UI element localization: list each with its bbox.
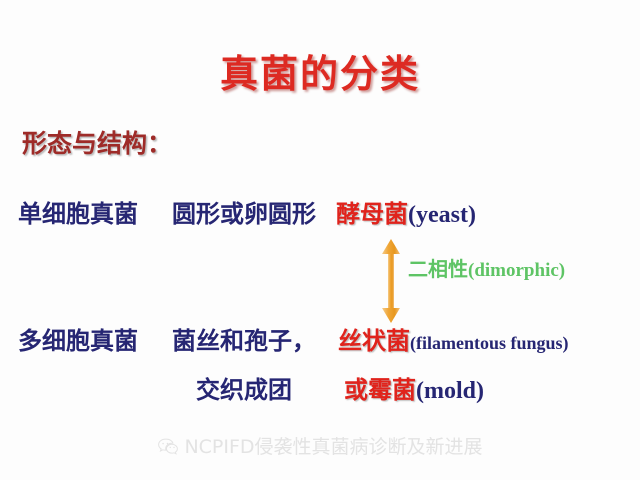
section-heading-morphology-structure: 形态与结构：: [22, 128, 172, 160]
mold-term-cjk: 或霉菌: [344, 376, 416, 404]
mold-term-latin: (mold): [416, 378, 484, 404]
multicellular-morphology-label: 菌丝和孢子，: [172, 327, 316, 355]
unicellular-category-label: 单细胞真菌: [18, 200, 138, 228]
unicellular-term-cjk: 酵母菌: [336, 200, 408, 228]
slide-title: 真菌的分类: [0, 52, 640, 96]
double-headed-vertical-arrow-icon: [380, 238, 402, 324]
watermark-text: NCPIFD侵袭性真菌病诊断及新进展: [184, 434, 482, 460]
wechat-icon: [157, 437, 179, 457]
dimorphic-label-latin: (dimorphic): [468, 260, 565, 281]
slide-canvas: 真菌的分类 形态与结构： 单细胞真菌 圆形或卵圆形 酵母菌(yeast) 二相性…: [0, 0, 640, 480]
multicellular-category-label: 多细胞真菌: [18, 327, 138, 355]
unicellular-morphology-label: 圆形或卵圆形: [172, 200, 316, 228]
unicellular-term-latin: (yeast): [408, 202, 476, 228]
row-mold: 交织成团 或霉菌(mold): [196, 374, 484, 407]
multicellular-term-cjk: 丝状菌: [338, 327, 410, 355]
multicellular-term-latin: (filamentous fungus): [410, 333, 569, 353]
mold-morphology-label: 交织成团: [196, 376, 292, 404]
watermark: NCPIFD侵袭性真菌病诊断及新进展: [0, 434, 640, 464]
row-multicellular: 多细胞真菌 菌丝和孢子， 丝状菌(filamentous fungus): [18, 325, 569, 359]
dimorphic-label-cjk: 二相性: [408, 257, 468, 281]
row-unicellular: 单细胞真菌 圆形或卵圆形 酵母菌(yeast): [18, 198, 476, 231]
dimorphic-annotation: 二相性(dimorphic): [408, 256, 565, 284]
